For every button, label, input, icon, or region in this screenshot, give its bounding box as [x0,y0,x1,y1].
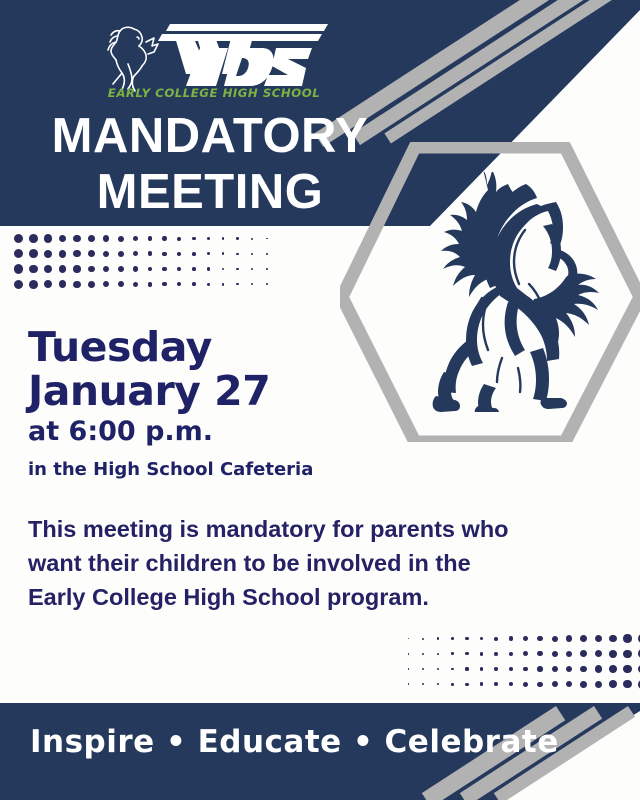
dot [251,253,253,255]
dot [59,280,67,288]
dot [162,252,166,256]
dot [148,236,153,241]
dot [44,265,52,273]
dot [251,238,253,240]
dot [192,282,196,286]
dot [609,635,617,643]
dot [29,265,38,274]
dot [509,682,513,686]
dot-grid-bottom-right [404,634,640,695]
dot [148,282,153,287]
event-details: Tuesday January 27 at 6:00 p.m. in the H… [28,325,428,483]
dot [88,281,95,288]
dot [451,652,454,655]
dot [162,236,166,240]
dot [207,283,210,286]
dot [133,251,138,256]
dot [251,268,253,270]
dot [595,650,602,657]
dot [44,234,52,242]
dot [133,282,138,287]
body-paragraph: This meeting is mandatory for parents wh… [28,512,588,614]
dot [59,250,67,258]
dot [192,267,196,271]
dot [580,666,587,673]
dot [437,653,439,655]
dot [177,237,181,241]
dot [422,668,424,670]
dot [580,650,587,657]
dot [609,650,617,658]
dot [623,665,631,673]
dot [437,683,439,685]
dot [236,237,238,239]
dot [103,235,109,241]
dot [207,237,210,240]
logo-mustang-horse-icon [104,24,160,92]
dot [29,249,38,258]
dot [494,667,498,671]
body-line-1: This meeting is mandatory for parents wh… [28,512,588,546]
dot [465,667,468,670]
dot [523,682,528,687]
dot [73,265,80,272]
dot [118,236,124,242]
dot-grid-row [404,634,640,650]
dot [14,264,23,273]
dot [207,267,210,270]
dot [408,683,410,685]
dot [509,667,513,671]
dot [437,668,439,670]
dot-grid-row [404,664,640,680]
dot [266,268,268,270]
dot [408,653,410,655]
body-line-2: want their children to be involved in th… [28,546,588,580]
dot [103,266,109,272]
dot [537,636,542,641]
dot [552,636,558,642]
event-day: Tuesday [28,325,428,369]
dot [623,680,631,688]
dot-grid-top-left [14,234,277,295]
dot [44,250,52,258]
dot [580,681,587,688]
dot [494,682,498,686]
dot [480,652,484,656]
dot [595,635,602,642]
dot [14,249,23,258]
dot [88,266,95,273]
dot [148,251,153,256]
poster-canvas: EARLY COLLEGE HIGH SCHOOL MANDATORY MEET… [0,0,640,800]
dot [552,681,558,687]
footer-divider [0,700,640,703]
dot [133,266,138,271]
dot [222,268,225,271]
dot [103,251,109,257]
dot [566,635,572,641]
dot [552,651,558,657]
dot [266,283,268,285]
dot [523,651,528,656]
dot [266,238,268,240]
dot [523,636,528,641]
dot [177,267,181,271]
dot [537,666,542,671]
dot [494,637,498,641]
dot [251,283,253,285]
dot [133,236,138,241]
body-line-3: Early College High School program. [28,580,588,614]
dot-grid-row [404,649,640,665]
dot [29,280,38,289]
dot [451,668,454,671]
dot [494,652,498,656]
dot [88,235,95,242]
dot [537,682,542,687]
dot [73,281,80,288]
dot [609,680,617,688]
logo-subtitle: EARLY COLLEGE HIGH SCHOOL [102,86,326,100]
dot [566,666,572,672]
dot [177,252,181,256]
dot [408,668,410,670]
dot-grid-row [404,680,640,696]
dot [437,637,439,639]
dot [623,650,631,658]
dot [266,253,268,255]
dot [451,637,454,640]
dot [73,235,80,242]
dot [192,252,196,256]
dot [162,282,166,286]
dot [192,237,196,241]
dot [103,281,109,287]
footer-tagline: Inspire • Educate • Celebrate [30,724,559,760]
dot [595,681,602,688]
dot [236,283,238,285]
dot-grid-row [14,280,277,296]
dot [523,667,528,672]
school-logo: EARLY COLLEGE HIGH SCHOOL [104,22,324,106]
dot [14,280,23,289]
dot [509,652,513,656]
dot [88,250,95,257]
dot [14,234,23,243]
dot-grid-row [14,234,277,250]
dot [451,683,454,686]
dot [59,235,67,243]
dot [422,653,424,655]
dot [222,252,225,255]
dot [118,281,124,287]
dot [118,266,124,272]
dot [465,683,468,686]
dot-grid-row [14,249,277,265]
dot [465,652,468,655]
event-time: at 6:00 p.m. [28,415,428,449]
dot [480,682,484,686]
dot [595,665,602,672]
dot [566,681,572,687]
dot [148,267,153,272]
dot [222,237,225,240]
dot [408,638,410,640]
dot [118,251,124,257]
dot [623,634,631,642]
dot [480,667,484,671]
dot [29,234,38,243]
dot [73,250,80,257]
dot [236,253,238,255]
dot [465,637,468,640]
dot-grid-row [14,264,277,280]
dot [566,651,572,657]
dot [580,635,587,642]
dot [59,265,67,273]
dot [509,636,513,640]
dot [207,252,210,255]
dot [480,637,484,641]
event-location: in the High School Cafeteria [28,457,428,483]
dot [222,283,225,286]
dot [162,267,166,271]
dot [177,282,181,286]
event-date: January 27 [28,369,428,413]
dot [236,268,238,270]
dot [422,683,424,685]
dot [422,638,424,640]
dot [552,666,558,672]
dot [609,665,617,673]
logo-wordmark-wos [156,22,328,88]
dot [44,280,52,288]
dot [537,651,542,656]
